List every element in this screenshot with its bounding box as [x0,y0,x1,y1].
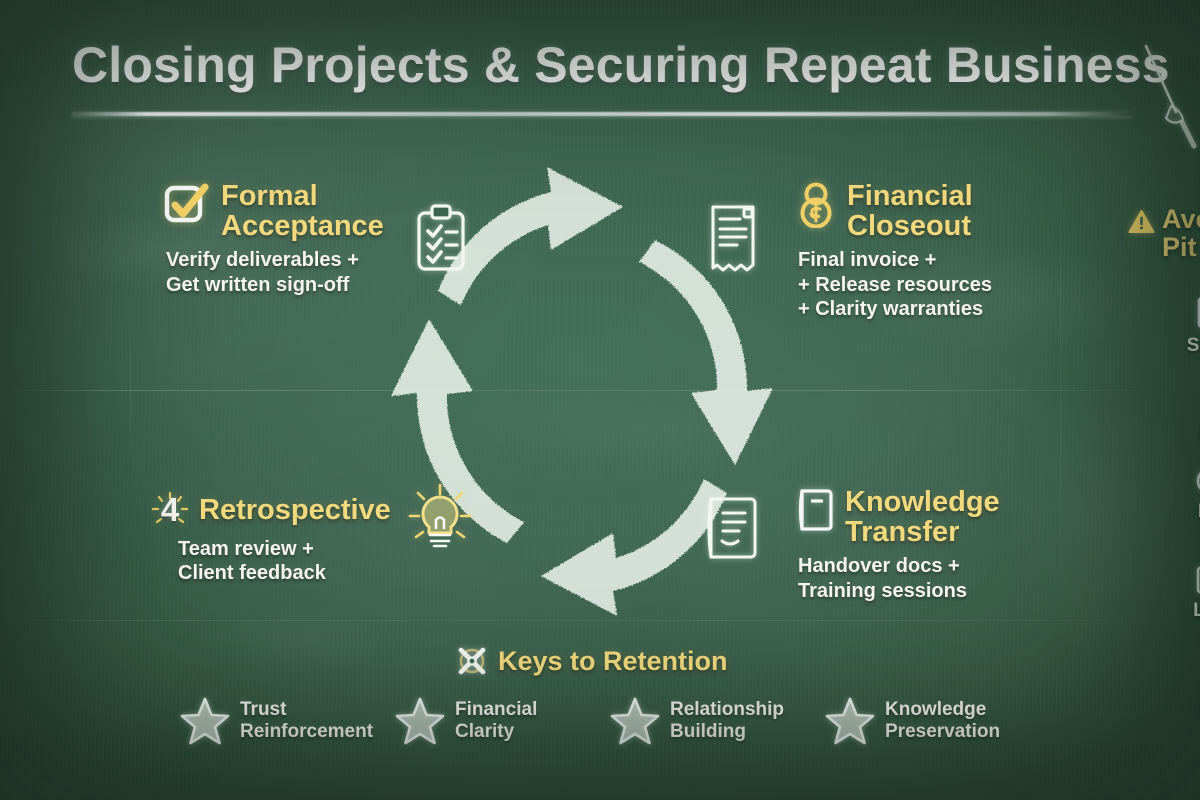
star-icon [610,697,660,745]
invoice-receipt-icon [713,207,753,270]
document-icon [1195,296,1200,330]
step-detail-line: Team review + [178,537,402,561]
pitfall-item-label-line2: In [1162,523,1200,545]
cycle-step-formal-acceptance: Formal Acceptance Verify deliverables + … [164,182,404,297]
pitfall-item-label: Scop [1187,335,1200,356]
step-detail-line: Handover docs + [798,554,1066,578]
clipboard-checklist-icon [419,206,463,269]
number-four-label: 4 [161,491,179,528]
book-icon [796,488,834,532]
cycle-step-retrospective: 4 Retrospective Team review + Client fee… [152,492,402,586]
avoid-pitfalls-panel: Avo Pit Scop U Cr De In [1128,205,1200,622]
pitfall-item-label-line2: Cr [1162,424,1200,446]
retention-heading-label: Keys to Retention [498,646,728,677]
retention-item-line2: Preservation [885,721,1000,743]
retention-items-row: Trust Reinforcement Financial Clarity Re… [180,697,1040,745]
retention-item-line1: Relationship [670,699,784,721]
retention-item: Trust Reinforcement [180,697,395,745]
lightbulb-icon [410,485,470,546]
number-four-icon: 4 [152,492,188,530]
step-detail-line: Final invoice + [798,248,1096,272]
retention-item-line2: Building [670,721,784,743]
page-title: Closing Projects & Securing Repeat Busin… [72,36,1142,94]
step-heading-line1: Retrospective [199,496,391,526]
step-detail-line: Client feedback [178,561,402,585]
star-icon [395,697,445,745]
cycle-arrow-bottom [541,479,727,616]
chart-icon [1195,565,1200,595]
cycle-step-knowledge-transfer: Knowledge Transfer Handover docs + Train… [796,488,1066,603]
chalk-ruled-line-vertical-left [130,330,131,460]
pitfall-item-label: Los [1193,600,1200,621]
crossed-keys-icon [455,645,489,677]
retention-item-line2: Reinforcement [240,721,373,743]
money-bag-icon [796,182,836,228]
cycle-step-financial-closeout: Financial Closeout Final invoice + + Rel… [796,182,1096,321]
pitfalls-heading-line1: Avo [1162,205,1200,233]
pitfall-item-label-line1: De [1162,501,1200,523]
pitfall-item: Los [1162,565,1200,622]
retention-section-heading: Keys to Retention [455,645,728,677]
retention-item: Relationship Building [610,697,825,745]
step-heading-line1: Formal [221,182,384,212]
pitfalls-heading-line2: Pit [1162,233,1200,261]
chalk-pointer-stick-icon [1140,40,1200,160]
cycle-arrow-right [639,240,773,465]
step-heading-line1: Knowledge [845,488,1000,518]
step-heading-line2: Closeout [847,212,973,242]
chalkboard-surface: Closing Projects & Securing Repeat Busin… [0,0,1200,800]
project-closeout-cycle-diagram [355,145,825,635]
step-detail-line: Verify deliverables + [166,248,404,272]
step-heading-line1: Financial [847,182,973,212]
star-icon [825,697,875,745]
pitfall-item: U Cr [1162,403,1200,447]
retention-item-line2: Clarity [455,721,537,743]
circle-icon [1195,466,1200,496]
step-detail-line: Training sessions [798,579,1066,603]
retention-item: Knowledge Preservation [825,697,1040,745]
checkbox-check-icon [164,182,210,226]
pitfall-item-label-line1: U [1162,403,1200,425]
pitfall-item: Scop [1162,296,1200,357]
warning-triangle-icon [1128,209,1155,235]
star-icon [180,697,230,745]
retention-item-line1: Trust [240,699,373,721]
step-heading-line2: Transfer [845,518,1000,548]
retention-item-line1: Financial [455,699,537,721]
pitfall-item: De In [1162,466,1200,545]
title-underline-rule [72,112,1132,116]
step-detail-line: + Release resources [798,273,1096,297]
cycle-arrow-top [438,167,623,305]
step-detail-line: + Clarity warranties [798,297,1096,321]
retention-item-line1: Knowledge [885,699,1000,721]
step-detail-line: Get written sign-off [166,273,404,297]
step-heading-line2: Acceptance [221,212,384,242]
retention-item: Financial Clarity [395,697,610,745]
